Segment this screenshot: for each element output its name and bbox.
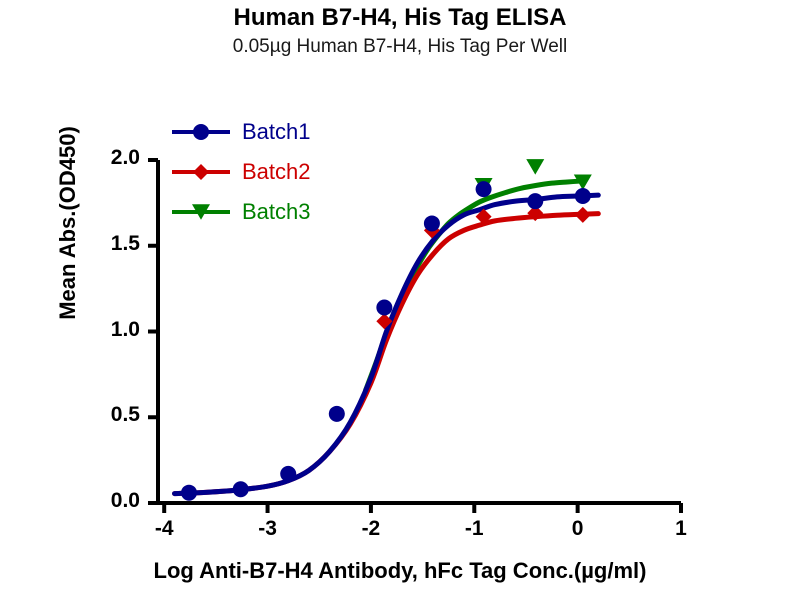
x-tick-label: -4 [144,517,184,541]
legend-label: Batch1 [242,119,311,145]
diamond-marker-icon [190,161,212,183]
legend-swatch [172,202,230,222]
x-tick-label: 1 [661,517,701,541]
y-tick-label: 1.5 [84,232,140,256]
data-point [424,215,440,231]
data-point [181,485,197,501]
data-point [233,481,249,497]
legend-item-batch2[interactable]: Batch2 [172,152,311,192]
circle-marker-icon [193,124,209,140]
y-tick-label: 1.0 [84,318,140,342]
data-point [280,466,296,482]
y-tick-label: 2.0 [84,146,140,170]
legend-item-batch1[interactable]: Batch1 [172,112,311,152]
x-tick-label: -3 [248,517,288,541]
legend-label: Batch2 [242,159,311,185]
legend-label: Batch3 [242,199,311,225]
circle-marker-icon [190,121,212,143]
data-point [476,181,492,197]
chart-figure: Human B7-H4, His Tag ELISA 0.05µg Human … [0,0,800,600]
data-point [329,406,345,422]
y-tick-label: 0.5 [84,403,140,427]
legend-swatch [172,162,230,182]
triangle-down-marker-icon [192,204,210,219]
data-point [527,193,543,209]
chart-legend: Batch1Batch2Batch3 [172,112,311,232]
x-tick-label: -2 [351,517,391,541]
data-point [376,299,392,315]
x-tick-label: -1 [454,517,494,541]
y-tick-label: 0.0 [84,489,140,513]
data-points-batch2 [181,205,591,501]
data-point [575,188,591,204]
data-point [575,207,591,223]
x-axis-label: Log Anti-B7-H4 Antibody, hFc Tag Conc.(µ… [0,558,800,584]
fit-curve-batch2 [175,214,599,494]
data-point [526,159,544,174]
diamond-marker-icon [193,164,209,180]
triangle-down-marker-icon [190,201,212,223]
legend-swatch [172,122,230,142]
y-axis-label: Mean Abs.(OD450) [55,103,81,343]
legend-item-batch3[interactable]: Batch3 [172,192,311,232]
x-tick-label: 0 [558,517,598,541]
